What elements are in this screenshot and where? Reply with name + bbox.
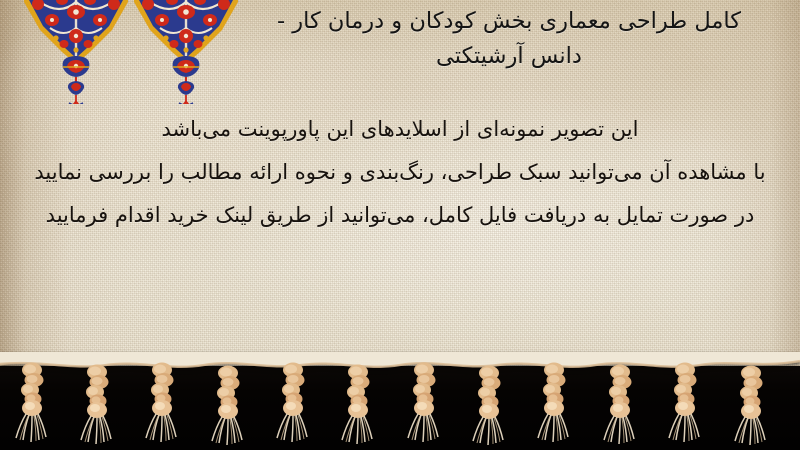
slide-body-line-1: این تصویر نمونه‌ای از اسلایدهای این پاور… xyxy=(14,108,786,151)
slide-title: کامل طراحی معماری بخش کودکان و درمان کار… xyxy=(236,4,782,74)
slide-body-text: این تصویر نمونه‌ای از اسلایدهای این پاور… xyxy=(14,108,786,237)
carpet-bottom-black-band xyxy=(0,366,800,450)
slide-title-line-2: دانس آرشیتکتی xyxy=(236,39,782,74)
presentation-slide: کامل طراحی معماری بخش کودکان و درمان کار… xyxy=(0,0,800,450)
slide-title-line-1: کامل طراحی معماری بخش کودکان و درمان کار… xyxy=(236,4,782,39)
slide-body-line-2: با مشاهده آن می‌توانید سبک طراحی، رنگ‌بن… xyxy=(14,151,786,194)
slide-body-line-3: در صورت تمایل به دریافت فایل کامل، می‌تو… xyxy=(14,194,786,237)
